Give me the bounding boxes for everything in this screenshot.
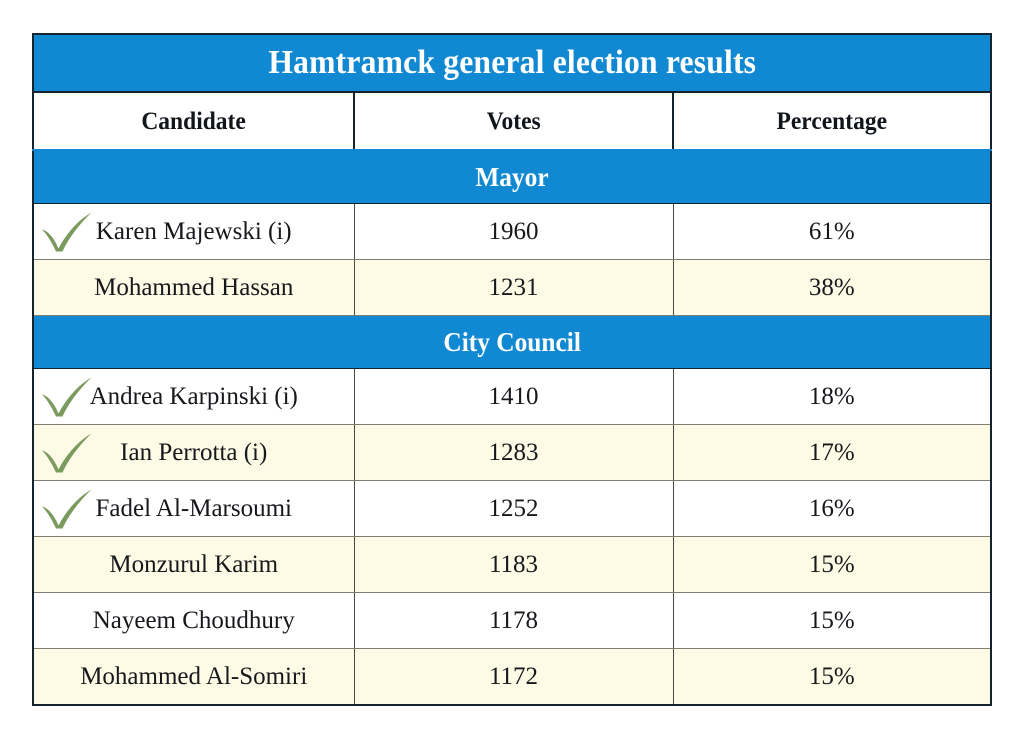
percentage-cell: 17%	[673, 425, 991, 481]
column-header-votes-label: Votes	[487, 109, 541, 134]
table-row: Karen Majewski (i) 1960 61%	[33, 204, 991, 260]
table-title-cell: Hamtramck general election results	[33, 34, 991, 92]
winner-check-icon	[40, 487, 94, 531]
column-header-candidate-label: Candidate	[141, 109, 245, 134]
table-row: Monzurul Karim 1183 15%	[33, 537, 991, 593]
candidate-cell: Ian Perrotta (i)	[33, 425, 354, 481]
candidate-name: Ian Perrotta (i)	[120, 440, 267, 465]
votes-cell: 1410	[354, 369, 673, 425]
candidate-name: Mohammed Hassan	[94, 275, 293, 300]
percentage-cell: 16%	[673, 481, 991, 537]
section-header-row-city-council: City Council	[33, 316, 991, 369]
votes-cell: 1178	[354, 593, 673, 649]
section-header-label: Mayor	[475, 164, 548, 191]
percentage-cell: 15%	[673, 537, 991, 593]
votes-cell: 1172	[354, 649, 673, 706]
candidate-name: Andrea Karpinski (i)	[90, 384, 298, 409]
candidate-cell: Mohammed Al-Somiri	[33, 649, 354, 706]
winner-check-icon	[40, 431, 94, 475]
column-header-percentage-label: Percentage	[777, 109, 887, 134]
percentage-cell: 38%	[673, 260, 991, 316]
section-header-cell: Mayor	[33, 150, 991, 204]
table-row: Andrea Karpinski (i) 1410 18%	[33, 369, 991, 425]
column-header-candidate: Candidate	[33, 92, 354, 150]
votes-cell: 1231	[354, 260, 673, 316]
table-row: Nayeem Choudhury 1178 15%	[33, 593, 991, 649]
votes-cell: 1252	[354, 481, 673, 537]
election-results-table: Hamtramck general election results Candi…	[32, 33, 992, 706]
candidate-cell: Monzurul Karim	[33, 537, 354, 593]
table-row: Mohammed Hassan 1231 38%	[33, 260, 991, 316]
candidate-cell: Fadel Al-Marsoumi	[33, 481, 354, 537]
candidate-cell: Karen Majewski (i)	[33, 204, 354, 260]
column-header-row: Candidate Votes Percentage	[33, 92, 991, 150]
percentage-cell: 61%	[673, 204, 991, 260]
table-body: Hamtramck general election results Candi…	[33, 34, 991, 705]
candidate-cell: Nayeem Choudhury	[33, 593, 354, 649]
table-row: Ian Perrotta (i) 1283 17%	[33, 425, 991, 481]
winner-check-icon	[40, 210, 94, 254]
votes-cell: 1283	[354, 425, 673, 481]
winner-check-icon	[40, 375, 94, 419]
percentage-cell: 18%	[673, 369, 991, 425]
table-row: Mohammed Al-Somiri 1172 15%	[33, 649, 991, 706]
candidate-name: Monzurul Karim	[109, 552, 278, 577]
percentage-cell: 15%	[673, 649, 991, 706]
page-root: Hamtramck general election results Candi…	[0, 0, 1024, 730]
table-row: Fadel Al-Marsoumi 1252 16%	[33, 481, 991, 537]
table-title: Hamtramck general election results	[268, 46, 756, 80]
candidate-name: Karen Majewski (i)	[96, 219, 292, 244]
candidate-cell: Mohammed Hassan	[33, 260, 354, 316]
section-header-label: City Council	[443, 329, 580, 356]
votes-cell: 1183	[354, 537, 673, 593]
percentage-cell: 15%	[673, 593, 991, 649]
candidate-name: Fadel Al-Marsoumi	[95, 496, 292, 521]
section-header-cell: City Council	[33, 316, 991, 369]
candidate-name: Nayeem Choudhury	[93, 608, 295, 633]
column-header-votes: Votes	[354, 92, 673, 150]
candidate-name: Mohammed Al-Somiri	[80, 664, 307, 689]
title-row: Hamtramck general election results	[33, 34, 991, 92]
column-header-percentage: Percentage	[673, 92, 991, 150]
votes-cell: 1960	[354, 204, 673, 260]
candidate-cell: Andrea Karpinski (i)	[33, 369, 354, 425]
section-header-row-mayor: Mayor	[33, 150, 991, 204]
